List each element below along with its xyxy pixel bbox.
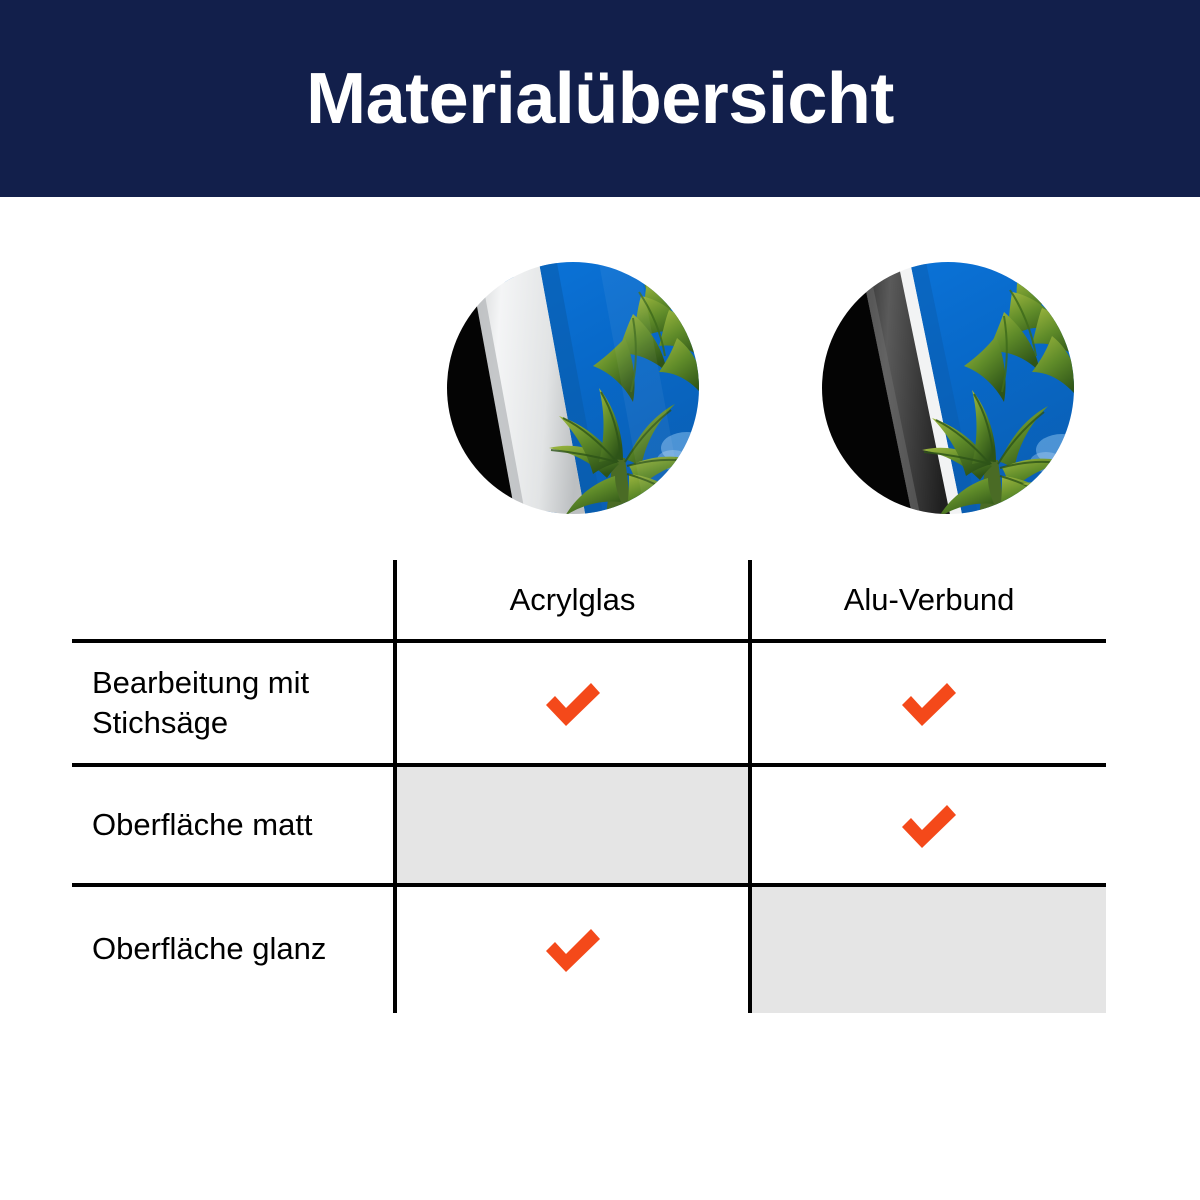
cell-acrylglas-stichsaege — [397, 641, 748, 765]
table-rule — [72, 639, 1106, 643]
row-label: Oberfläche glanz — [92, 929, 326, 969]
alu-verbund-sample-image — [822, 262, 1074, 514]
row-label-cell: Oberfläche glanz — [72, 885, 393, 1013]
table-row: Oberfläche matt — [72, 765, 1106, 885]
table-column-divider — [748, 560, 752, 1013]
page-title: Materialübersicht — [306, 63, 894, 135]
table-header-row: Acrylglas Alu-Verbund — [72, 558, 1106, 641]
table-rule — [72, 883, 1106, 887]
column-header-acrylglas: Acrylglas — [397, 558, 748, 641]
table-rule — [72, 763, 1106, 767]
row-label: Bearbeitung mit Stichsäge — [92, 663, 309, 742]
material-overview-page: Materialübersicht — [0, 0, 1200, 1200]
acrylglas-photo — [447, 262, 699, 514]
material-comparison-table: Acrylglas Alu-Verbund Bearbeitung mit St… — [72, 558, 1106, 1013]
cell-alu-verbund-glanz — [752, 885, 1106, 1013]
table-row: Bearbeitung mit Stichsäge — [72, 641, 1106, 765]
acrylglas-sample-image — [447, 262, 699, 514]
check-icon — [898, 679, 960, 727]
material-sample-images — [0, 262, 1200, 514]
check-icon — [542, 925, 604, 973]
cell-acrylglas-matt — [397, 765, 748, 885]
cell-acrylglas-glanz — [397, 885, 748, 1013]
alu-verbund-photo — [822, 262, 1074, 514]
row-label-line: Bearbeitung mit — [92, 665, 309, 700]
table-column-divider — [393, 560, 397, 1013]
column-header-alu-verbund: Alu-Verbund — [752, 558, 1106, 641]
row-label: Oberfläche matt — [92, 805, 313, 845]
cell-alu-verbund-stichsaege — [752, 641, 1106, 765]
cell-alu-verbund-matt — [752, 765, 1106, 885]
table-corner-cell — [72, 558, 393, 641]
column-header-acrylglas-label: Acrylglas — [397, 581, 748, 618]
page-header-banner: Materialübersicht — [0, 0, 1200, 197]
row-label-cell: Oberfläche matt — [72, 765, 393, 885]
column-header-alu-verbund-label: Alu-Verbund — [752, 581, 1106, 618]
check-icon — [898, 801, 960, 849]
check-icon — [542, 679, 604, 727]
table-row: Oberfläche glanz — [72, 885, 1106, 1013]
row-label-line: Stichsäge — [92, 705, 228, 740]
row-label-cell: Bearbeitung mit Stichsäge — [72, 641, 393, 765]
